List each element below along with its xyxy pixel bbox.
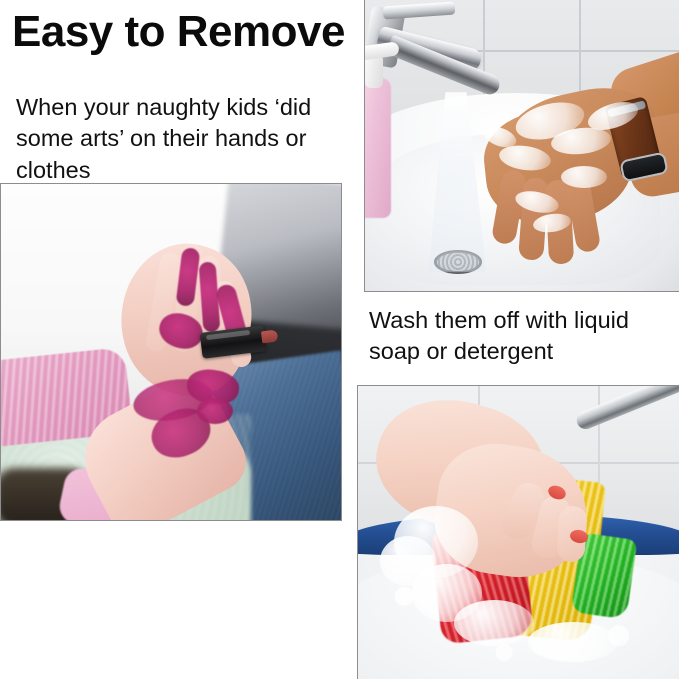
right-caption-text: Wash them off with liquid soap or deterg… — [369, 305, 674, 368]
soap-suds — [454, 600, 534, 646]
handwash-scene — [365, 0, 679, 291]
kid-scene — [1, 184, 341, 520]
handwashing-photo — [364, 0, 679, 292]
soap-suds — [561, 166, 607, 188]
ink-stain — [197, 398, 233, 424]
cloths-scene — [358, 386, 679, 679]
washing-cloths-photo — [357, 385, 679, 679]
soap-suds — [380, 536, 436, 586]
soap-dispenser-bottle — [365, 78, 391, 218]
left-column: Easy to Remove When your naughty kids ‘d… — [0, 0, 352, 679]
infographic-page: Easy to Remove When your naughty kids ‘d… — [0, 0, 679, 679]
soap-suds — [528, 622, 618, 662]
page-title: Easy to Remove — [12, 8, 345, 56]
kid-inky-hands-photo — [0, 183, 342, 521]
left-caption-text: When your naughty kids ‘did some arts’ o… — [16, 92, 338, 186]
